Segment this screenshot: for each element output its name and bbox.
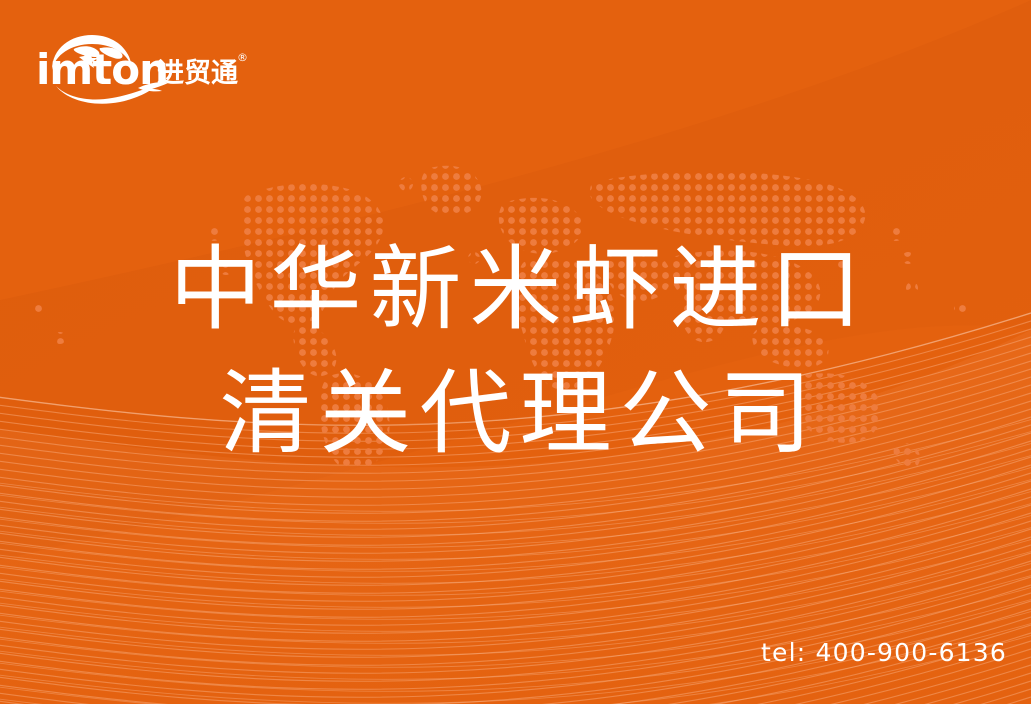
- headline-line-2: 清关代理公司: [0, 352, 1031, 476]
- logo-artwork: imton 进贸通 ®: [34, 28, 249, 104]
- headline-line-1: 中华新米虾进口: [0, 228, 1031, 352]
- contact-phone[interactable]: tel: 400-900-6136: [761, 638, 1007, 667]
- logo-chinese-name: 进贸通: [157, 58, 238, 89]
- brand-logo[interactable]: imton 进贸通 ®: [34, 28, 249, 104]
- registered-trademark-icon: ®: [237, 51, 248, 64]
- logo-wordmark: imton: [36, 45, 168, 94]
- promo-banner: imton 进贸通 ® 中华新米虾进口 清关代理公司 tel: 400-900-…: [0, 0, 1031, 704]
- headline: 中华新米虾进口 清关代理公司: [0, 228, 1031, 476]
